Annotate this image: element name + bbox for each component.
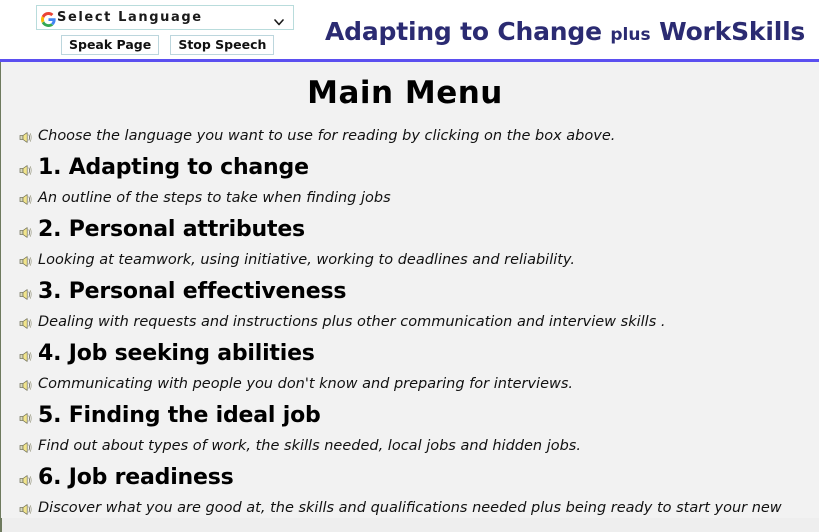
site-title-part2: WorkSkills (659, 17, 805, 46)
section-heading-row: 1. Adapting to change (1, 155, 809, 181)
page-header: Select Language Speak Page Stop Speech A… (0, 0, 819, 62)
section-title-3[interactable]: 3. Personal effectiveness (38, 279, 346, 305)
section-title-5[interactable]: 5. Finding the ideal job (38, 403, 321, 429)
language-select-value-wrap: Select Language (41, 6, 203, 29)
speak-page-button[interactable]: Speak Page (61, 35, 159, 55)
section-title-4[interactable]: 4. Job seeking abilities (38, 341, 315, 367)
bottom-band (1, 518, 819, 532)
translate-widget: Select Language Speak Page Stop Speech (36, 5, 302, 55)
section-title-1[interactable]: 1. Adapting to change (38, 155, 309, 181)
section-desc-1: An outline of the steps to take when fin… (38, 188, 407, 208)
speaker-icon[interactable] (19, 162, 32, 175)
chevron-down-icon (274, 12, 284, 22)
section-heading-row: 6. Job readiness (1, 465, 809, 491)
speaker-icon[interactable] (19, 253, 32, 266)
page-title: Main Menu (1, 62, 809, 111)
speaker-icon[interactable] (19, 315, 32, 328)
section-title-2[interactable]: 2. Personal attributes (38, 217, 305, 243)
speaker-icon[interactable] (19, 410, 32, 423)
page-root: Select Language Speak Page Stop Speech A… (0, 0, 819, 532)
site-title: Adapting to Change plus WorkSkills (325, 17, 805, 46)
intro-row: Choose the language you want to use for … (1, 126, 809, 146)
language-select[interactable]: Select Language (36, 5, 294, 30)
speaker-icon[interactable] (19, 348, 32, 361)
section-desc-3: Dealing with requests and instructions p… (38, 312, 681, 332)
speaker-icon[interactable] (19, 501, 32, 514)
stop-speech-button[interactable]: Stop Speech (170, 35, 274, 55)
speaker-icon[interactable] (19, 191, 32, 204)
section-desc-2: Looking at teamwork, using initiative, w… (38, 250, 591, 270)
section-desc-row: Dealing with requests and instructions p… (1, 312, 809, 332)
section-desc-row: Find out about types of work, the skills… (1, 436, 809, 456)
site-title-part1: Adapting to Change (325, 17, 602, 46)
section-heading-row: 3. Personal effectiveness (1, 279, 809, 305)
language-select-label: Select Language (57, 6, 203, 29)
speaker-icon[interactable] (19, 286, 32, 299)
section-heading-row: 5. Finding the ideal job (1, 403, 809, 429)
section-desc-row: An outline of the steps to take when fin… (1, 188, 809, 208)
section-desc-5: Find out about types of work, the skills… (38, 436, 597, 456)
intro-text: Choose the language you want to use for … (38, 126, 631, 146)
speaker-icon[interactable] (19, 224, 32, 237)
speaker-icon[interactable] (19, 472, 32, 485)
section-desc-4: Communicating with people you don't know… (38, 374, 589, 394)
section-heading-row: 2. Personal attributes (1, 217, 809, 243)
section-heading-row: 4. Job seeking abilities (1, 341, 809, 367)
section-desc-6-line1: Discover what you are good at, the skill… (38, 498, 782, 518)
main-content: Main Menu Choose the language you want t… (0, 62, 819, 532)
speaker-icon[interactable] (19, 377, 32, 390)
speaker-icon[interactable] (19, 439, 32, 452)
speaker-icon[interactable] (19, 129, 32, 142)
section-title-6[interactable]: 6. Job readiness (38, 465, 234, 491)
speech-button-row: Speak Page Stop Speech (36, 34, 302, 55)
section-desc-row: Looking at teamwork, using initiative, w… (1, 250, 809, 270)
section-desc-row: Communicating with people you don't know… (1, 374, 809, 394)
site-title-plus: plus (610, 25, 650, 45)
google-g-icon (41, 10, 56, 25)
